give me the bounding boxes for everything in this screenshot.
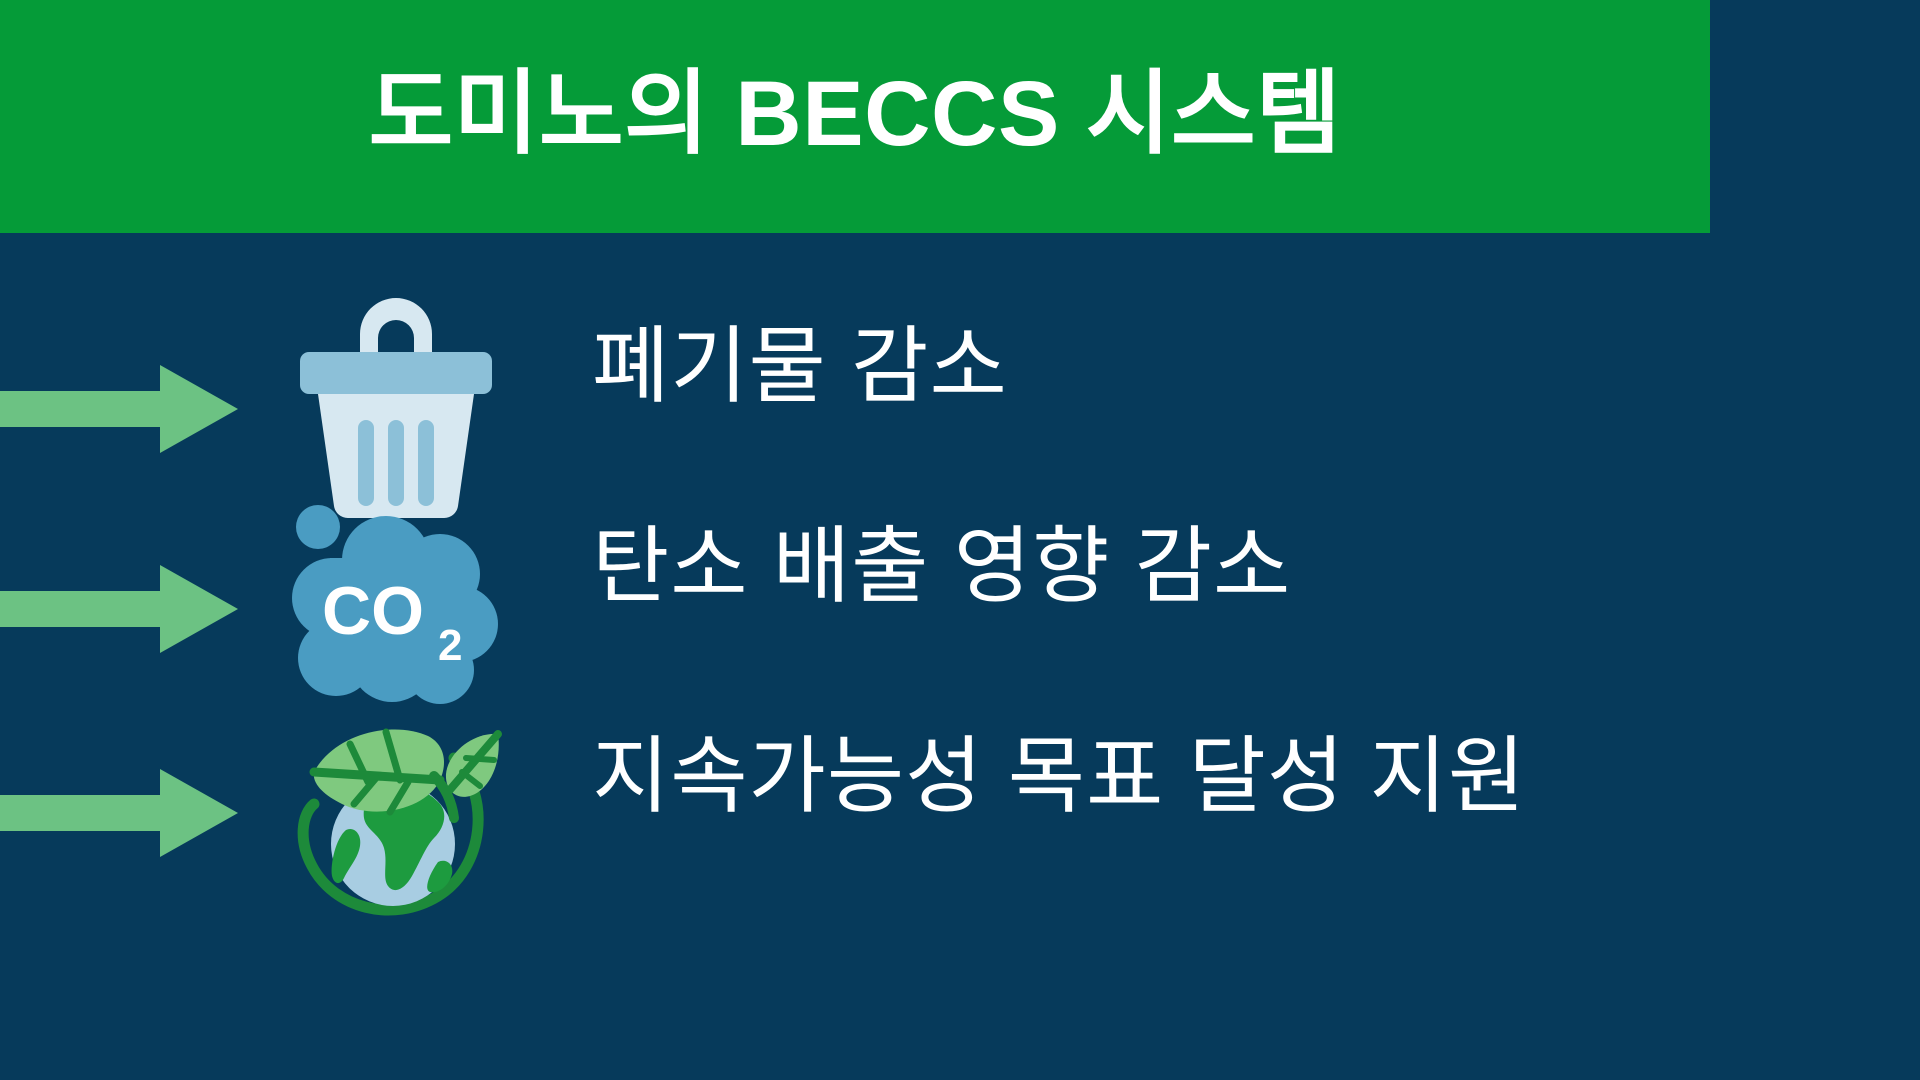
benefit-label-sustainability: 지속가능성 목표 달성 지원	[592, 728, 1526, 825]
earth-leaf-icon	[288, 696, 504, 926]
right-arrow-icon	[0, 765, 242, 861]
right-arrow-icon	[0, 361, 242, 457]
page-title: 도미노의 BECCS 시스템	[369, 68, 1342, 166]
svg-text:CO: CO	[322, 573, 424, 649]
slide-canvas: 도미노의 BECCS 시스템 폐기물 감소	[0, 0, 1920, 1080]
benefit-label-waste: 폐기물 감소	[592, 318, 1008, 415]
benefit-label-carbon: 탄소 배출 영향 감소	[592, 518, 1291, 615]
svg-text:2: 2	[438, 621, 462, 670]
title-banner: 도미노의 BECCS 시스템	[0, 0, 1710, 233]
right-arrow-icon	[0, 561, 242, 657]
benefit-row-sustainability: 지속가능성 목표 달성 지원	[0, 672, 1920, 912]
